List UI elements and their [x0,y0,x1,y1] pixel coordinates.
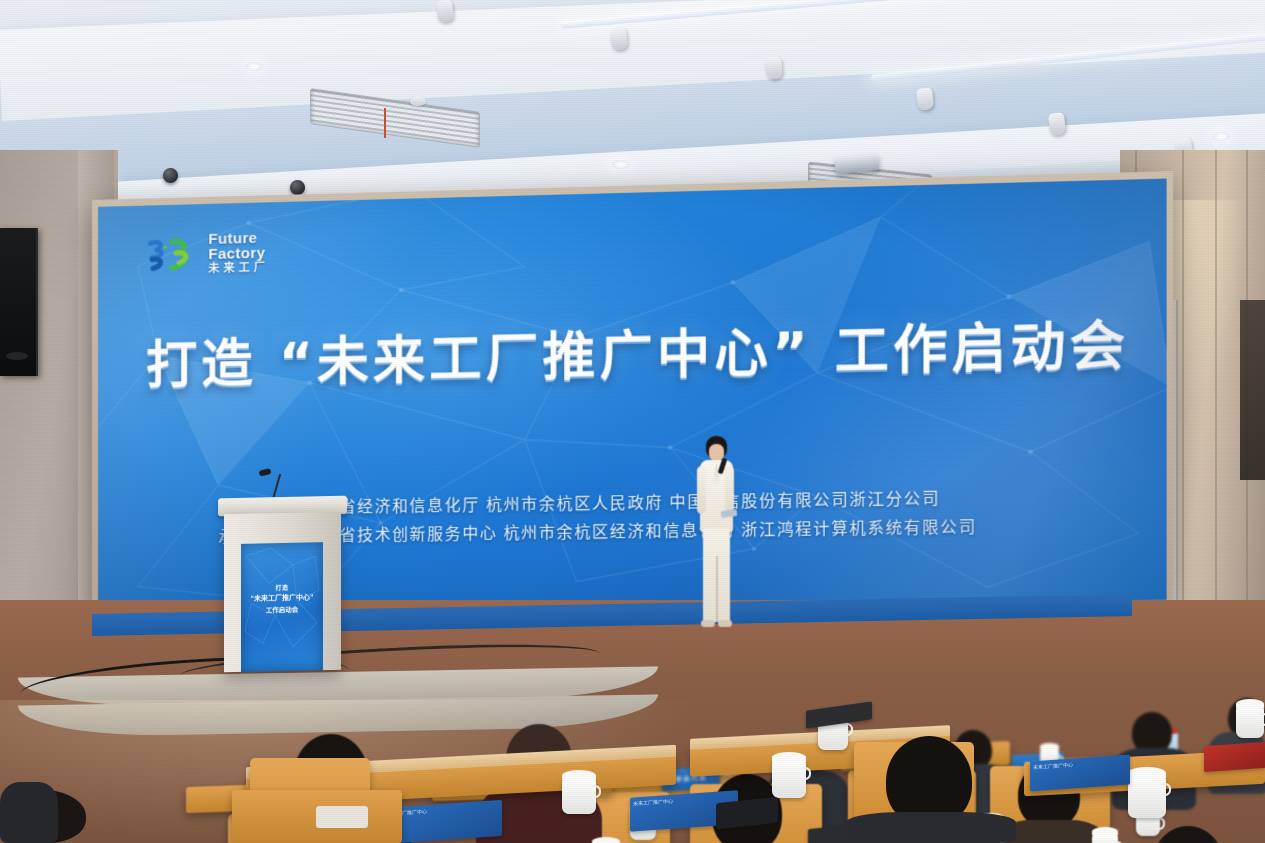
downlight-icon [1212,132,1230,141]
lectern-display: 打造 “未来工厂推广中心” 工作启动会 [241,542,323,672]
wall-dark-panel [1240,300,1265,480]
spotlight-fixture [1048,112,1066,136]
wall-speaker [0,228,38,376]
lectern-title-line1: 打造 [241,582,323,593]
spotlight-fixture [436,0,454,23]
downlight-icon [612,160,630,169]
presenter-right-arm [725,466,734,512]
audience-member-body [0,782,58,843]
track-spotlight-icon [163,168,178,183]
conference-hall-photo: Future Factory 未来工厂 打造 “未来工厂推广中心” 工作启动会 … [0,0,1265,843]
presenter [694,436,738,641]
cue-card [721,509,738,518]
audience-member-body [846,812,1016,843]
booklet-red [1204,742,1265,772]
lectern-body: 打造 “未来工厂推广中心” 工作启动会 [224,512,341,672]
tea-mug [772,760,806,798]
tea-mug [562,778,596,814]
presenter-shoe [701,620,715,627]
spotlight-fixture [610,27,628,51]
lectern-title-line2: “未来工厂推广中心” [241,592,323,604]
tea-mug [1128,776,1166,818]
downlight-icon [245,62,263,71]
track-spotlight-icon [290,180,305,195]
presenter-left-arm [697,466,706,514]
desk-control-panel[interactable] [316,806,368,828]
spotlight-fixture [916,87,934,111]
vent-marker [384,108,386,138]
lectern-title-line3: 工作启动会 [241,603,323,615]
presenter-shoe [718,620,732,627]
lectern: 打造 “未来工厂推广中心” 工作启动会 [224,496,341,673]
smoke-detector-icon [410,96,426,106]
spotlight-fixture [765,56,783,80]
tea-mug [1236,706,1264,738]
